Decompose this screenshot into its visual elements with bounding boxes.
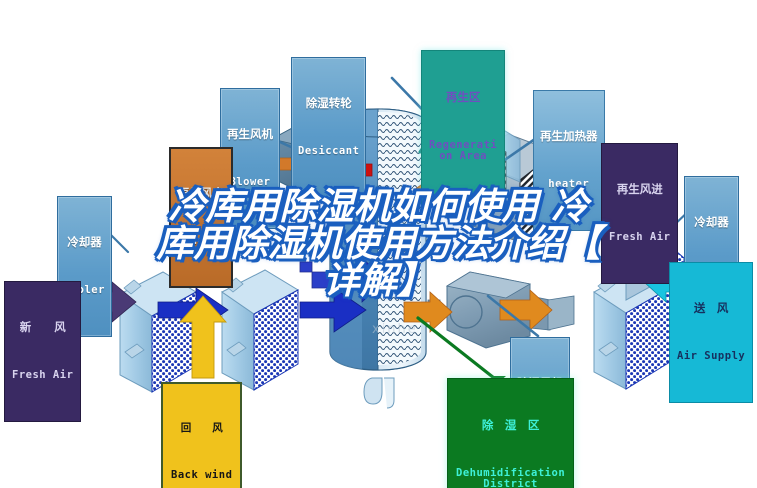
label-back-wind-en: Back wind (171, 470, 232, 482)
label-regeneration-heater: 再生加热器 heater (533, 90, 605, 231)
label-regeneration-heater-en: heater (540, 179, 598, 191)
label-back-wind-cn: 回 风 (171, 423, 232, 435)
label-fresh-air: 新 风 Fresh Air (4, 281, 81, 422)
label-regeneration-area-en: Regenerati on Area (429, 140, 497, 164)
label-fresh-air-cn: 新 风 (12, 321, 73, 334)
label-regeneration-exhaust-cn: 再生风出 (177, 187, 225, 200)
label-air-supply: 送 风 Air Supply (669, 262, 753, 403)
label-regen-fresh-air-cn: 再生风进 (609, 183, 670, 196)
label-fresh-air-en: Fresh Air (12, 370, 73, 382)
label-dehumid-district-cn: 除 湿 区 (456, 419, 565, 432)
label-regeneration-area: 再生区 Regenerati on Area (421, 50, 505, 205)
label-regeneration-blower-cn: 再生风机 (227, 128, 273, 141)
label-regeneration-fresh-air-in: 再生风进 Fresh Air (601, 143, 678, 284)
label-regeneration-heater-cn: 再生加热器 (540, 130, 598, 143)
diagram-canvas: xinhe (0, 0, 757, 488)
label-back-wind: 回 风 Back wind (161, 382, 242, 488)
label-regeneration-blower-en: Blower (227, 177, 273, 189)
label-desiccant-wheel-cn: 除湿转轮 (298, 97, 359, 110)
label-regeneration-area-cn: 再生区 (429, 91, 497, 104)
label-cooler-left-cn: 冷却器 (64, 236, 105, 249)
svg-text:xinhe: xinhe (372, 322, 418, 337)
label-cooler-right-cn: 冷却器 (691, 216, 732, 229)
label-desiccant-wheel-en: Desiccant (298, 146, 359, 158)
label-desiccant-wheel: 除湿转轮 Desiccant (291, 57, 366, 198)
label-dehumid-district-en: Dehumidification District (456, 468, 565, 488)
label-dehumidification-district: 除 湿 区 Dehumidification District (447, 378, 574, 488)
label-air-supply-cn: 送 风 (677, 302, 745, 315)
label-air-supply-en: Air Supply (677, 351, 745, 363)
label-regeneration-exhaust-en: Exhaust (177, 236, 225, 248)
label-regeneration-exhaust: 再生风出 Exhaust (169, 147, 233, 288)
label-regen-fresh-air-en: Fresh Air (609, 232, 670, 244)
